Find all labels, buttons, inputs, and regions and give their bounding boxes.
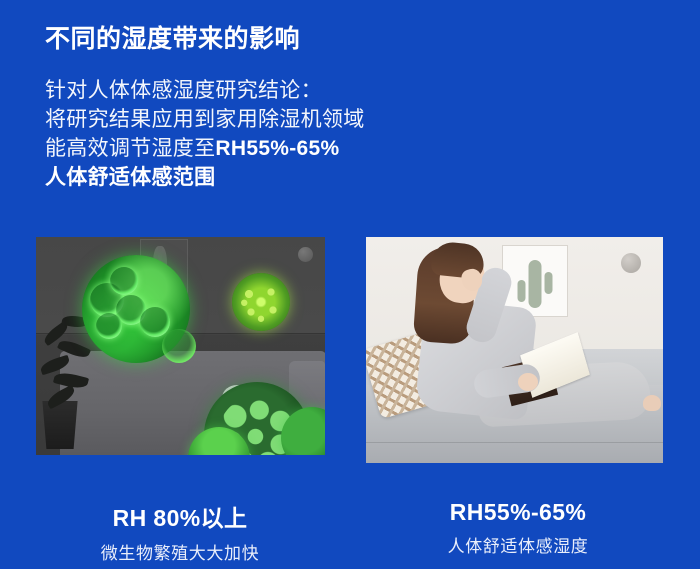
caption-high-humidity-title: RH 80%以上 — [30, 499, 330, 533]
caption-high-humidity: RH 80%以上 微生物繁殖大大加快 — [30, 499, 330, 564]
caption-comfort-humidity-title: RH55%-65% — [368, 499, 668, 526]
humidity-infographic-poster: 不同的湿度带来的影响 针对人体体感湿度研究结论： 将研究结果应用到家用除湿机领域… — [0, 0, 700, 569]
dark-room-background — [36, 237, 325, 455]
page-title: 不同的湿度带来的影响 — [45, 19, 300, 55]
intro-line-3-normal: 能高效调节湿度至 — [45, 137, 215, 160]
intro-line-1: 针对人体体感湿度研究结论： — [45, 76, 565, 105]
intro-line-2: 将研究结果应用到家用除湿机领域 — [45, 105, 565, 134]
microbe-cell — [96, 313, 122, 339]
cactus-illustration — [529, 260, 542, 308]
microbe-sphere-yellow — [232, 273, 290, 331]
wall-round-decor — [298, 247, 313, 262]
photo-comfort-humidity — [366, 237, 663, 463]
sofa-seam-line — [366, 442, 663, 443]
microbe-sphere-tiny — [162, 329, 196, 363]
plant-pot — [40, 401, 80, 449]
intro-line-3: 能高效调节湿度至RH55%-65% — [45, 134, 565, 163]
intro-line-4: 人体舒适体感范围 — [45, 163, 565, 192]
wall-speaker-decor — [621, 253, 641, 273]
caption-high-humidity-subtitle: 微生物繁殖大大加快 — [30, 539, 330, 564]
caption-comfort-humidity: RH55%-65% 人体舒适体感湿度 — [368, 499, 668, 557]
intro-line-3-highlight: RH55%-65% — [215, 137, 339, 160]
intro-text-block: 针对人体体感湿度研究结论： 将研究结果应用到家用除湿机领域 能高效调节湿度至RH… — [45, 76, 565, 192]
microbe-cell — [110, 267, 138, 295]
light-room-background — [366, 237, 663, 463]
caption-comfort-humidity-subtitle: 人体舒适体感湿度 — [368, 532, 668, 557]
microbe-cell — [140, 307, 170, 337]
photo-high-humidity — [36, 237, 325, 455]
woman-hand-holding-book — [518, 373, 538, 391]
woman-foot — [643, 395, 661, 411]
